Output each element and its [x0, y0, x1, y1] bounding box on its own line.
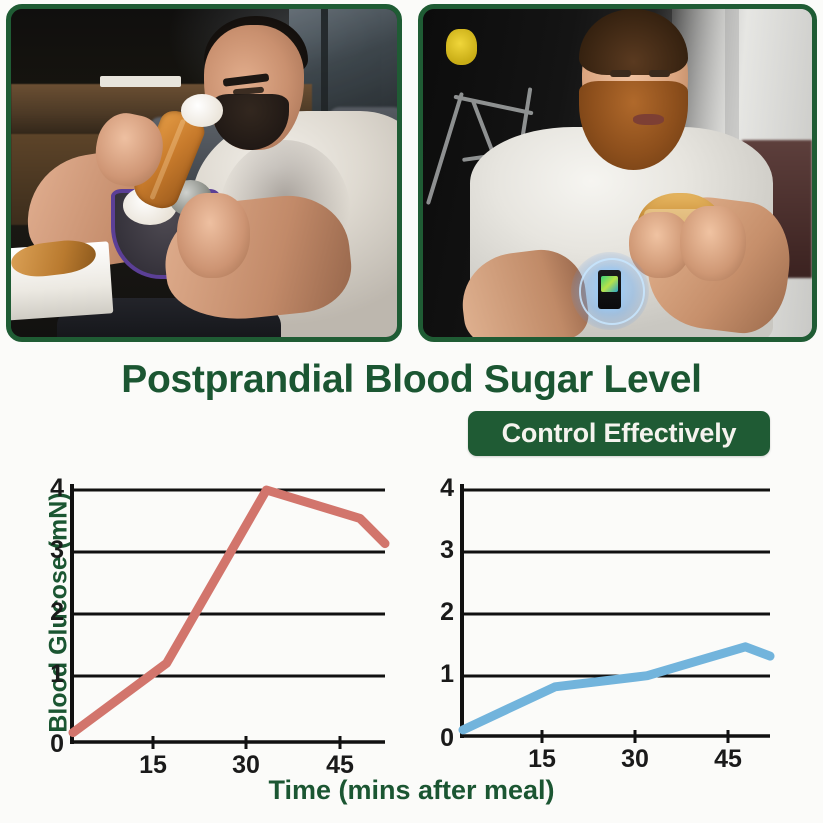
photo-uncontrolled-eating [6, 4, 402, 342]
photo-controlled-inner [423, 9, 812, 337]
chart-controlled-svg [430, 466, 780, 766]
series-controlled-line [463, 647, 770, 730]
photo-controlled-eating [418, 4, 817, 342]
scene-dark-room [11, 9, 397, 337]
ytick-label-0: 0 [432, 724, 454, 753]
xtick-label-45: 45 [706, 745, 750, 774]
right-hand-shape [177, 193, 250, 278]
ytick-label-0: 0 [42, 730, 64, 759]
series-uncontrolled-line [73, 490, 385, 733]
gridlines-right [462, 490, 770, 676]
left-eye-shape [610, 70, 631, 77]
gridlines-left [72, 490, 385, 676]
photo-row [0, 0, 823, 352]
mouth-shape [633, 114, 664, 125]
page-title: Postprandial Blood Sugar Level [0, 358, 823, 402]
chart-uncontrolled: 4 3 2 1 0 15 30 45 [40, 466, 390, 766]
ytick-label-2: 2 [432, 598, 454, 627]
ytick-label-1: 1 [42, 660, 64, 689]
chart-controlled: 4 3 2 1 0 15 30 45 [430, 466, 780, 766]
white-box-shape [100, 76, 181, 86]
xtick-label-30: 30 [613, 745, 657, 774]
charts-container: Blood Glucose (mN) 4 3 [0, 466, 823, 823]
ytick-label-4: 4 [432, 474, 454, 503]
scene-garage-room [423, 9, 812, 337]
photo-uncontrolled-inner [11, 9, 397, 337]
status-badge: Control Effectively [468, 411, 770, 456]
right-hand-shape [680, 206, 746, 281]
ytick-label-2: 2 [42, 598, 64, 627]
yellow-object-shape [446, 29, 477, 65]
ytick-label-3: 3 [42, 536, 64, 565]
ytick-label-4: 4 [42, 474, 64, 503]
ytick-label-3: 3 [432, 536, 454, 565]
right-eye-shape [649, 70, 670, 77]
ytick-label-1: 1 [432, 660, 454, 689]
xtick-label-15: 15 [520, 745, 564, 774]
infographic-root: Postprandial Blood Sugar Level Control E… [0, 0, 823, 823]
x-axis-label: Time (mins after meal) [0, 775, 823, 806]
smartwatch-icon [598, 270, 621, 309]
whipped-cream-top-shape [181, 94, 223, 127]
chart-uncontrolled-svg [40, 466, 390, 766]
